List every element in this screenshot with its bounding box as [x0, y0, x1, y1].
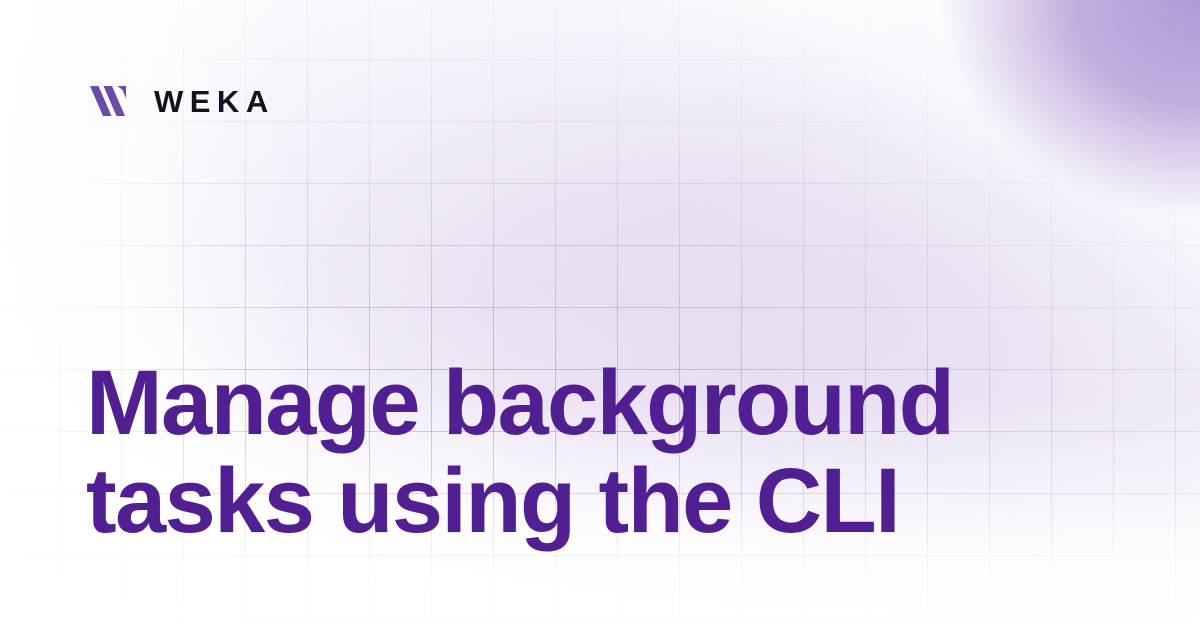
page-title: Manage background tasks using the CLI [86, 355, 1116, 550]
weka-wordmark: WEKA [154, 86, 275, 117]
page-title-line-1: Manage background [86, 355, 1116, 453]
social-card-canvas: WEKA Manage background tasks using the C… [0, 0, 1200, 630]
weka-logo-lockup[interactable]: WEKA [86, 78, 275, 124]
page-title-line-2: tasks using the CLI [86, 453, 1116, 551]
weka-diagonal-strokes-icon [86, 78, 134, 124]
